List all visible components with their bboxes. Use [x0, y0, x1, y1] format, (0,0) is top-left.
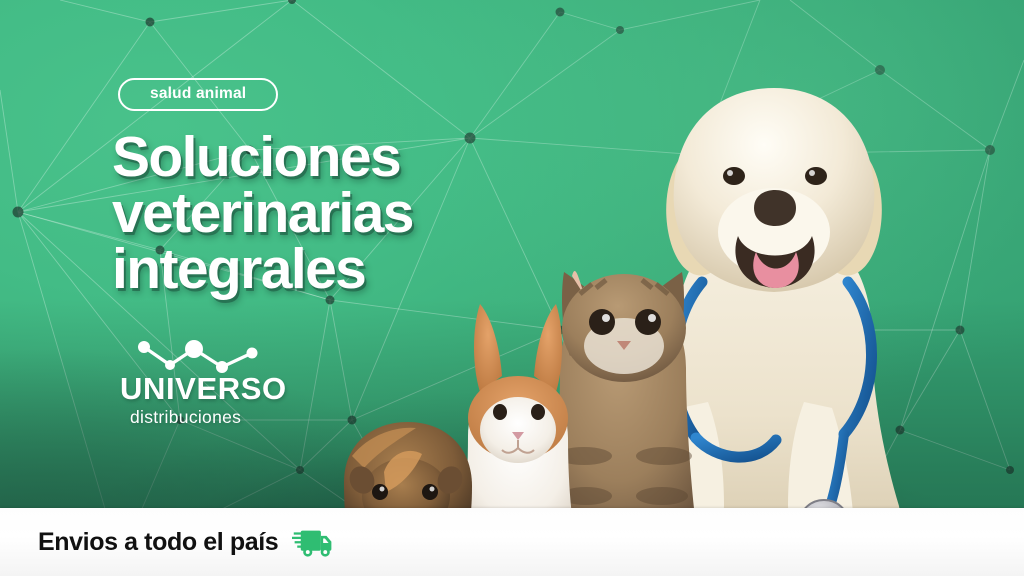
category-badge-label: salud animal: [150, 86, 246, 102]
delivery-truck-icon: [292, 525, 334, 559]
headline-line-1: Soluciones: [112, 129, 632, 185]
brand-logo-name: UNIVERSO: [120, 373, 280, 404]
brand-logo: UNIVERSO distribuciones: [120, 335, 280, 427]
brand-logo-subtitle: distribuciones: [130, 409, 280, 427]
hero-content: salud animal Soluciones veterinarias int…: [112, 78, 632, 426]
category-badge: salud animal: [118, 78, 278, 111]
shipping-bar: Envios a todo el país: [0, 508, 1024, 576]
headline-line-3: integrales: [112, 241, 632, 297]
shipping-message: Envios a todo el país: [38, 530, 278, 555]
connected-dots-graph-icon: [130, 335, 268, 375]
shipping-bar-content: Envios a todo el país: [38, 525, 334, 559]
headline-line-2: veterinarias: [112, 185, 632, 241]
veterinary-promo-banner: salud animal Soluciones veterinarias int…: [0, 0, 1024, 576]
page-title: Soluciones veterinarias integrales: [112, 129, 632, 297]
